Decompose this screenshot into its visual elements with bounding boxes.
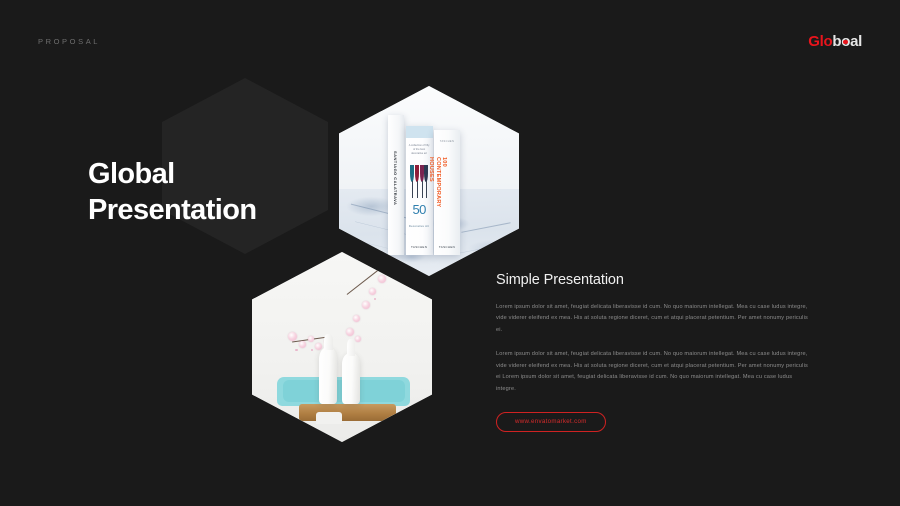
book-santiago-calatrava: SANTIAGO CALATRAVA [388,115,404,256]
vases-photo-hexagon [252,252,432,442]
blossom [362,301,370,309]
title-line-2: Presentation [88,193,256,228]
books-photo-hexagon: SANTIAGO CALATRAVA A collection of fifty… [339,86,519,276]
blossom [346,328,354,336]
ceramic-vase-left [319,347,338,404]
logo-part-b: b [832,33,841,50]
book1-spine-text: SANTIAGO CALATRAVA [393,151,398,205]
book2-subtitle: Decorative Art [406,224,433,228]
content-paragraph-1: Lorem ipsum dolor sit amet, feugiat deli… [496,302,808,336]
blossom [308,336,314,342]
book2-glasses-illustration [410,165,428,199]
book3-title-line3: HOUSES [428,157,434,182]
book3-title-line2: CONTEMPORARY [435,157,441,207]
ceramic-vase-right [342,353,360,404]
logo-part-glo: Glo [808,33,832,50]
glass-icon-2 [415,165,419,199]
blossom-bud [295,349,298,352]
books-scene: SANTIAGO CALATRAVA A collection of fifty… [339,86,519,276]
logo-part-al: al [850,33,862,50]
wooden-tray [299,404,396,421]
content-paragraph-2: Lorem ipsum dolor sit amet, feugiat deli… [496,349,808,395]
blossom-bud [374,298,376,300]
book2-micro-text: A collection of fifty of the best decora… [408,144,430,156]
blossom [353,315,360,322]
blossom [299,341,306,348]
book2-publisher: TASCHEN [406,245,433,249]
book-100-contemporary-houses: TASCHEN 100 CONTEMPORARY HOUSES TASCHEN [434,130,459,255]
content-heading: Simple Presentation [496,272,808,288]
blossom [288,332,297,341]
book3-title-line1: 100 [441,157,447,167]
book3-title: 100 CONTEMPORARY HOUSES [428,157,447,207]
page-title: Global Presentation [88,157,256,228]
blossom-bud [311,349,313,351]
blossom [369,288,376,295]
content-column: Simple Presentation Lorem ipsum dolor si… [496,272,808,432]
vases-scene [252,252,432,442]
logo-part-o-dot-icon: o [841,34,850,49]
blossom [355,336,361,342]
glass-icon-1 [410,165,414,199]
title-line-1: Global [88,157,256,192]
book3-publisher: TASCHEN [434,245,459,249]
book3-top-text: TASCHEN [434,140,459,143]
blossom-branch-right [347,267,382,295]
blossom-bud [385,271,388,274]
website-url-button[interactable]: www.envatomarket.com [496,412,606,432]
proposal-label: PROPOSAL [38,37,100,46]
brand-logo[interactable]: Globoal [808,34,862,49]
blossom [378,275,386,283]
book2-top-band [406,126,433,138]
presentation-slide: PROPOSAL Globoal SANTIAGO CALATRAVA A co… [0,0,900,506]
